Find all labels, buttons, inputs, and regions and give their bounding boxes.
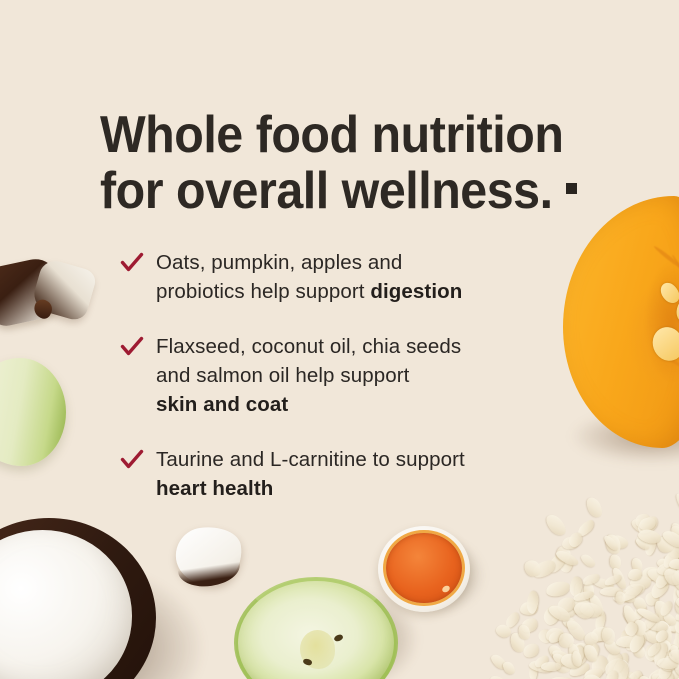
oat-flake xyxy=(543,511,569,538)
page-title: Whole food nutrition for overall wellnes… xyxy=(100,107,584,219)
oat-flake xyxy=(616,591,626,604)
oat-flake xyxy=(584,495,604,519)
oat-flake xyxy=(669,558,679,568)
oat-flake xyxy=(579,552,597,569)
oil-bowl-image xyxy=(378,526,470,612)
benefit-text: Taurine and L-carnitine to support heart… xyxy=(156,448,465,500)
benefit-emphasis: heart health xyxy=(156,477,273,500)
oat-flake xyxy=(489,674,508,679)
benefit-body: Taurine and L-carnitine to support xyxy=(156,448,465,471)
benefit-emphasis: digestion xyxy=(370,280,462,303)
registration-mark xyxy=(566,183,577,194)
oat-flake xyxy=(501,659,517,676)
benefit-body: Flaxseed, coconut oil, chia seeds and sa… xyxy=(156,335,461,387)
check-icon xyxy=(120,449,144,471)
oat-flake xyxy=(674,492,679,514)
pumpkin-half-image xyxy=(563,196,679,448)
oil-bowl-liquid xyxy=(386,533,461,604)
benefit-body: Oats, pumpkin, apples and probiotics hel… xyxy=(156,251,402,303)
coconut-chunk-image xyxy=(176,527,242,585)
benefit-text: Flaxseed, coconut oil, chia seeds and sa… xyxy=(156,335,461,416)
benefits-list: Oats, pumpkin, apples and probiotics hel… xyxy=(120,248,570,503)
promo-canvas: Whole food nutrition for overall wellnes… xyxy=(0,0,679,679)
benefit-emphasis: skin and coat xyxy=(156,393,288,416)
oat-flake xyxy=(545,580,571,599)
list-item: Oats, pumpkin, apples and probiotics hel… xyxy=(120,248,570,306)
apple-slice-image xyxy=(0,358,66,466)
oat-flake xyxy=(541,661,561,670)
benefit-text: Oats, pumpkin, apples and probiotics hel… xyxy=(156,251,462,303)
coconut-half-image xyxy=(0,518,156,679)
check-icon xyxy=(120,252,144,274)
list-item: Flaxseed, coconut oil, chia seeds and sa… xyxy=(120,332,570,419)
apple-half-image xyxy=(236,578,396,679)
list-item: Taurine and L-carnitine to support heart… xyxy=(120,445,570,503)
apple-slice-body xyxy=(0,358,66,466)
check-icon xyxy=(120,336,144,358)
oats-cluster-image xyxy=(495,499,679,679)
